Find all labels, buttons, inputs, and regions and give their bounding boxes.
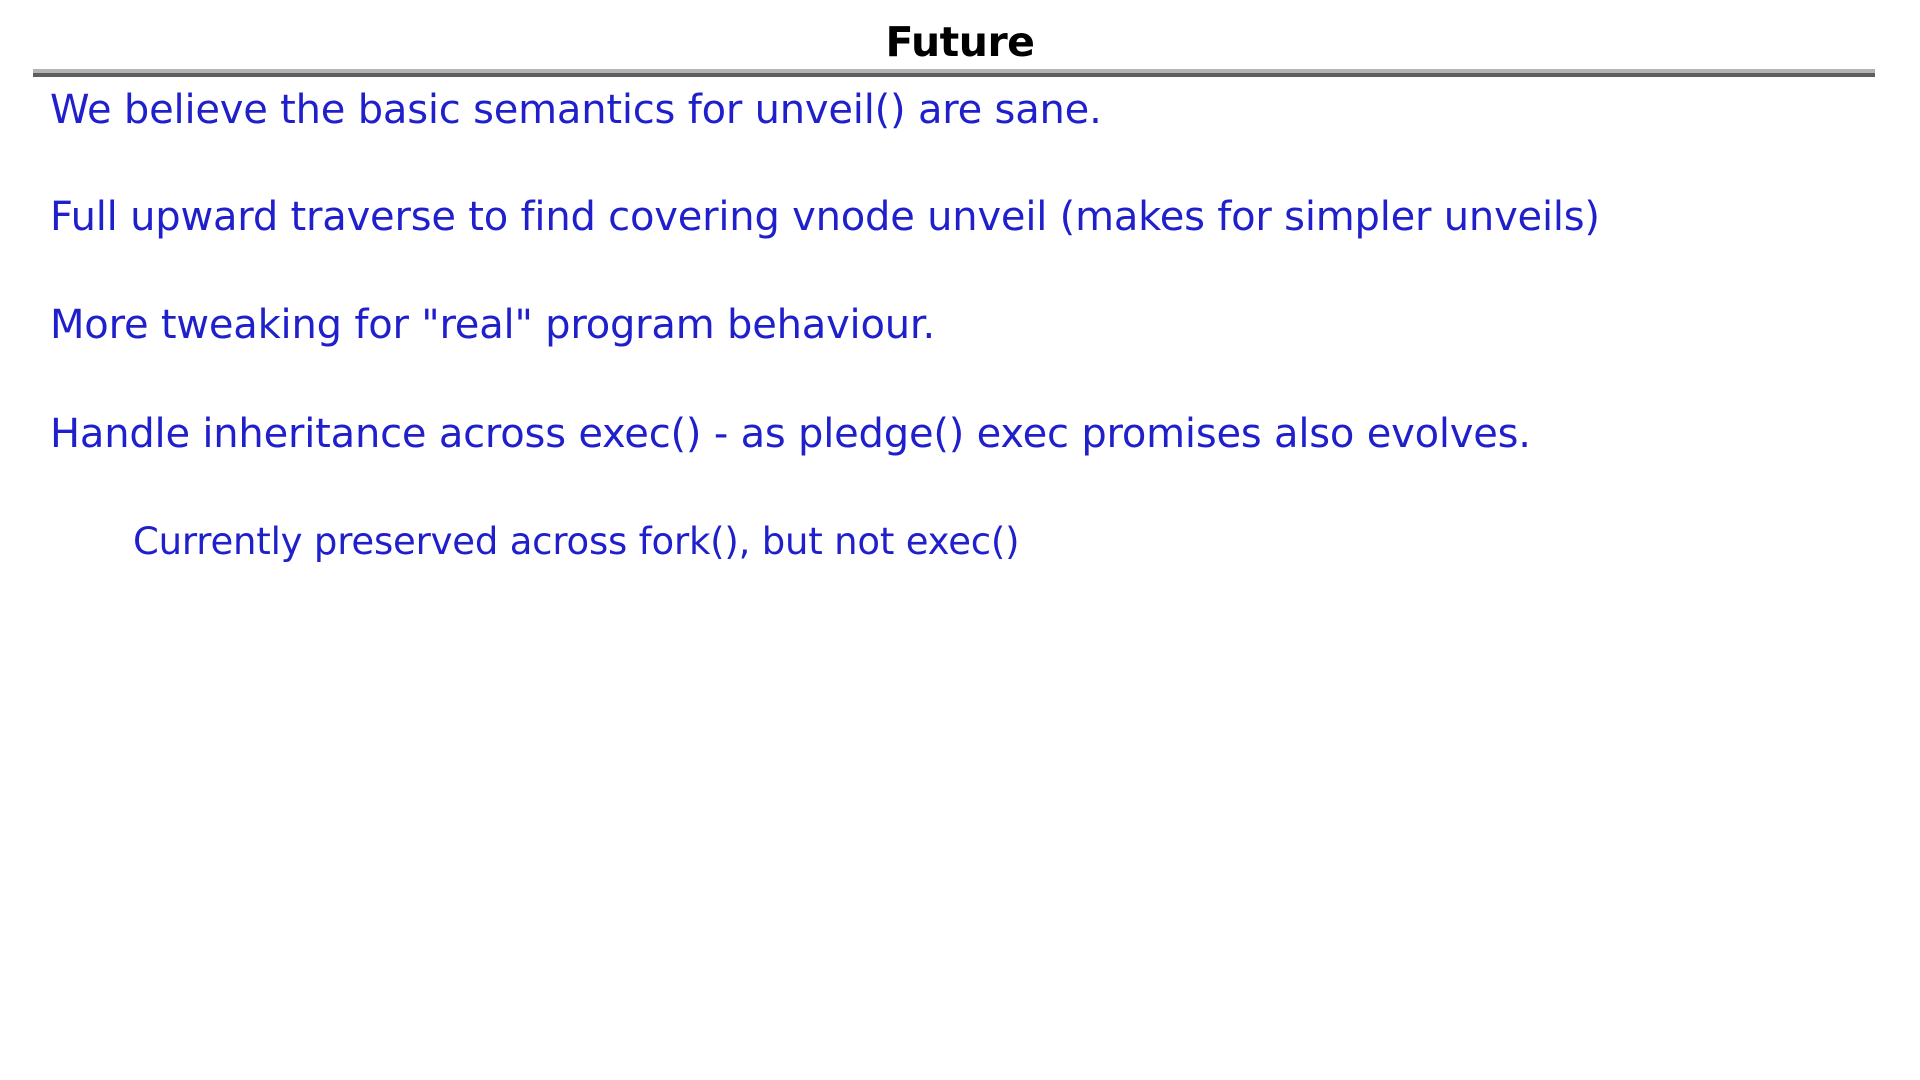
bullet-line: More tweaking for "real" program behavio… [50,299,935,351]
bullet-line-sub: Currently preserved across fork(), but n… [133,516,1019,568]
title-divider-rule [33,69,1875,77]
presentation-slide: Future We believe the basic semantics fo… [0,0,1920,1080]
bullet-line: Handle inheritance across exec() - as pl… [50,408,1531,460]
divider-band-dark [33,73,1875,77]
bullet-line: Full upward traverse to find covering vn… [50,191,1600,243]
page-title: Future [0,18,1920,66]
bullet-line: We believe the basic semantics for unvei… [50,84,1102,136]
